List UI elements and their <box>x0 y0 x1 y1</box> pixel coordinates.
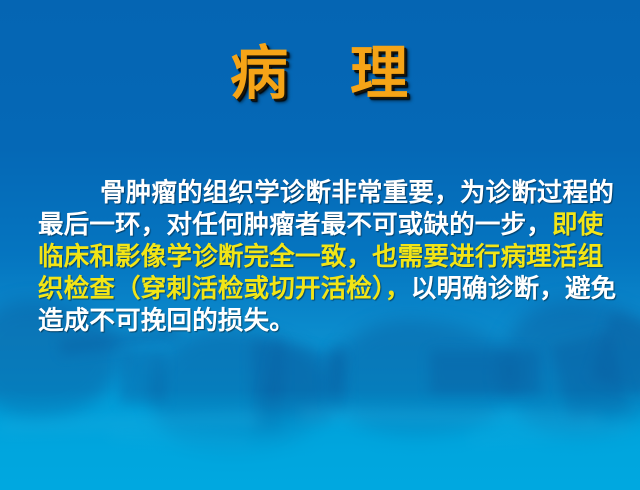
slide-title: 病 理 <box>0 38 640 108</box>
body-segment-white-1: 骨肿瘤的组织学诊断非常重要，为诊断过程的最后一环，对任何肿瘤者最不可或缺的一步， <box>38 178 614 240</box>
presentation-slide: 病 理 骨肿瘤的组织学诊断非常重要，为诊断过程的最后一环，对任何肿瘤者最不可或缺… <box>0 0 640 490</box>
slide-body-text: 骨肿瘤的组织学诊断非常重要，为诊断过程的最后一环，对任何肿瘤者最不可或缺的一步，… <box>38 145 618 369</box>
